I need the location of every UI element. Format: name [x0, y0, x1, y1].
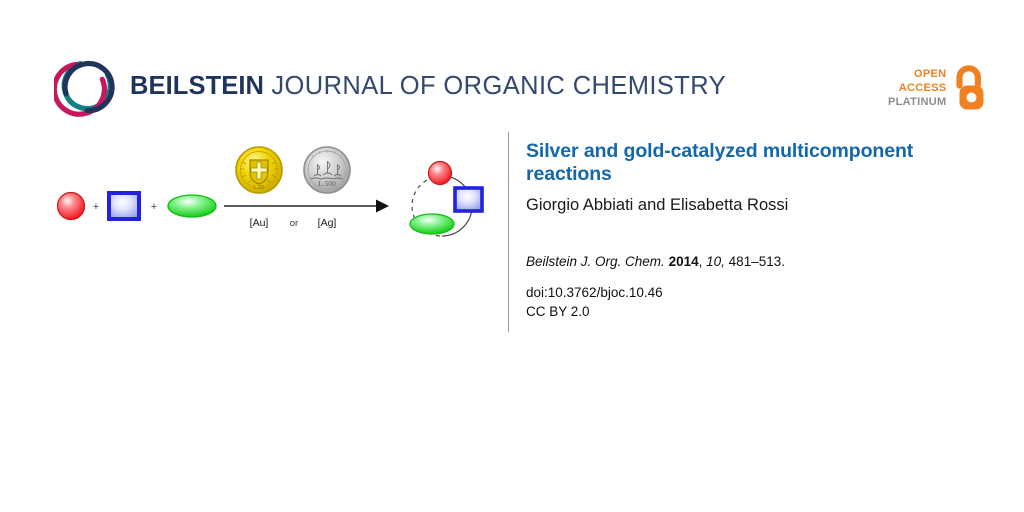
beilstein-ring-logo-icon — [54, 55, 118, 119]
open-access-label-stack: OPEN ACCESS PLATINUM — [888, 67, 946, 109]
product-red-sphere — [429, 162, 452, 185]
wordmark-light: JOURNAL OF ORGANIC CHEMISTRY — [271, 72, 726, 100]
open-lock-icon — [951, 65, 985, 111]
graphical-abstract-scheme: + + L.20 L.500 — [44, 138, 500, 258]
product-green-ellipse — [410, 214, 454, 234]
product-blue-square — [455, 188, 482, 211]
article-metadata-panel: Silver and gold-catalyzed multicomponent… — [526, 140, 996, 321]
product-cycle — [410, 162, 482, 237]
citation-journal: Beilstein J. Org. Chem. — [526, 254, 665, 269]
catalyst-label-ag: [Ag] — [318, 217, 337, 229]
reactant-red-sphere — [58, 193, 85, 220]
plus-sign-1: + — [93, 201, 99, 213]
article-doi[interactable]: doi:10.3762/bjoc.10.46 — [526, 284, 996, 302]
svg-text:L.500: L.500 — [318, 179, 336, 188]
reactant-blue-square — [109, 193, 139, 219]
open-access-platinum-badge[interactable]: OPEN ACCESS PLATINUM — [888, 60, 985, 116]
article-authors: Giorgio Abbiati and Elisabetta Rossi — [526, 195, 996, 215]
citation-volume: 10, — [706, 254, 725, 269]
article-citation: Beilstein J. Org. Chem. 2014, 10, 481–51… — [526, 253, 996, 270]
open-access-line-open: OPEN — [888, 67, 946, 81]
journal-header: BEILSTEIN JOURNAL OF ORGANIC CHEMISTRY O… — [0, 0, 1024, 132]
reaction-arrow — [224, 200, 389, 213]
catalyst-label-au: [Au] — [250, 217, 269, 229]
content-divider — [508, 132, 509, 332]
wordmark-bold: BEILSTEIN — [130, 72, 264, 100]
open-access-line-platinum: PLATINUM — [888, 95, 946, 109]
gold-coin-icon: L.20 — [236, 147, 282, 193]
svg-text:L.20: L.20 — [254, 185, 264, 191]
open-access-line-access: ACCESS — [888, 81, 946, 95]
plus-sign-2: + — [151, 201, 157, 213]
journal-brand-lockup[interactable]: BEILSTEIN JOURNAL OF ORGANIC CHEMISTRY — [54, 55, 726, 119]
reactant-green-ellipse — [168, 195, 216, 217]
citation-year: 2014 — [669, 254, 699, 269]
citation-pages: 481–513. — [729, 254, 785, 269]
journal-wordmark: BEILSTEIN JOURNAL OF ORGANIC CHEMISTRY — [130, 74, 726, 100]
article-title[interactable]: Silver and gold-catalyzed multicomponent… — [526, 140, 996, 186]
silver-coin-icon: L.500 — [304, 147, 350, 193]
article-license[interactable]: CC BY 2.0 — [526, 303, 996, 321]
catalyst-conjunction: or — [290, 218, 298, 229]
